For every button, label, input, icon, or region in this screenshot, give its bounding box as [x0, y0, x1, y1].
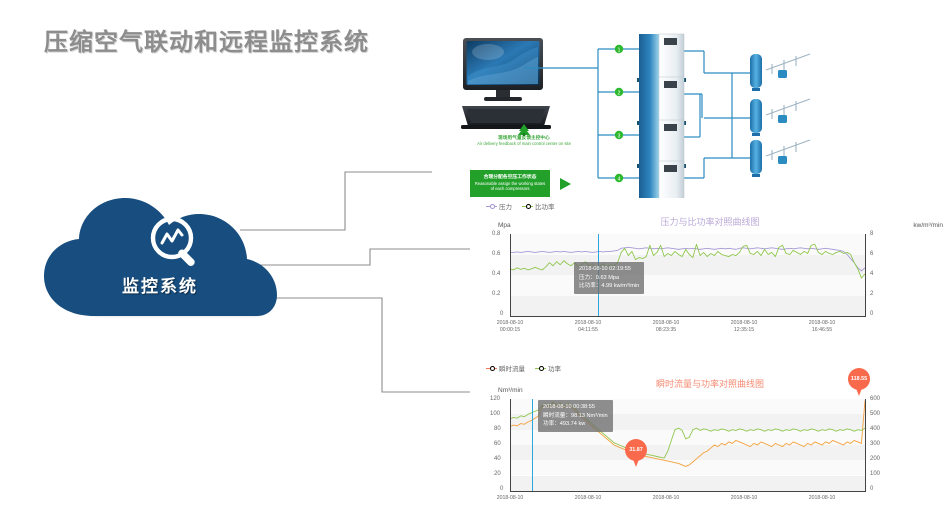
chart1-y-unit: Mpa [498, 222, 511, 229]
chart2-marker-min[interactable]: 31.87 [625, 439, 647, 467]
chart1-ytick: 0.2 [492, 291, 500, 297]
chart1-y2-axis [865, 234, 866, 317]
system-diagram-panel: 现场用气量反馈主控中心 Air delivery feedback of mai… [432, 18, 945, 208]
pressure-power-chart: 压力 比功率 压力与比功率对照曲线图 Mpa kw/m³/min 0.8 0.6… [470, 198, 945, 338]
chart2-y2tick: 100 [870, 471, 880, 477]
svg-text:1: 1 [618, 47, 621, 53]
chart2-xtick: 2018-08-10 [714, 495, 774, 502]
svg-text:2: 2 [618, 90, 621, 96]
tooltip-line-2: 功率：493.74 kw [543, 420, 608, 429]
chart2-marker-max[interactable]: 118.55 [848, 368, 870, 396]
chart2-y2tick: 0 [870, 486, 873, 492]
chart1-y2tick: 8 [870, 231, 873, 237]
legend-item-flow[interactable]: 瞬时流量 [486, 363, 525, 373]
chart1-y2tick: 0 [870, 311, 873, 317]
legend-label: 功率 [548, 363, 561, 373]
cloud-label: 监控系统 [38, 272, 282, 297]
chart1-xtick: 2018-08-10 00:00:15 [480, 320, 540, 334]
chart2-xtick: 2018-08-10 [636, 495, 696, 502]
chart1-y2tick: 4 [870, 271, 873, 277]
xtick-time: 08:23:35 [656, 327, 676, 333]
legend-marker-line-icon [486, 203, 497, 209]
chart1-xtick: 2018-08-10 04:11:55 [558, 320, 618, 334]
chart2-tooltip: 2018-08-10 00:38:55 瞬时流量：98.13 Nm³/min 功… [538, 400, 613, 432]
chart1-ytick: 0.4 [492, 271, 500, 277]
tooltip-line-2: 比功率：4.99 kw/m³/min [579, 282, 639, 291]
chart2-ytick: 60 [494, 441, 501, 447]
chart1-xtick: 2018-08-10 12:35:15 [714, 320, 774, 334]
legend-item-power[interactable]: 功率 [535, 363, 561, 373]
legend-marker-line-icon [486, 365, 497, 371]
chart2-xtick: 2018-08-10 [480, 495, 540, 502]
chart1-x-axis [510, 316, 866, 317]
xtick-date: 2018-08-10 [653, 320, 680, 326]
chart2-x-axis [510, 491, 866, 492]
xtick-time: 12:35:15 [734, 327, 754, 333]
legend-label: 压力 [499, 201, 512, 211]
chart1-plot-area[interactable] [510, 234, 865, 316]
chart1-ytick: 0.8 [492, 231, 500, 237]
chart2-ytick: 120 [490, 396, 500, 402]
xtick-time: 16:46:55 [812, 327, 832, 333]
chart1-tooltip: 2018-08-10 02:19:55 压力：0.63 Mpa 比功率：4.99… [574, 262, 644, 294]
magnifier-chart-icon [146, 214, 208, 272]
chart2-ytick: 0 [500, 486, 503, 492]
marker-label: 31.87 [625, 439, 647, 461]
xtick-time: 00:00:15 [500, 327, 520, 333]
svg-text:4: 4 [618, 176, 621, 182]
chart2-y2-axis [865, 399, 866, 492]
chart2-ytick: 20 [494, 471, 501, 477]
chart1-ytick: 0.6 [492, 251, 500, 257]
chart2-cursor-line[interactable] [532, 399, 533, 491]
xtick-date: 2018-08-10 [809, 320, 836, 326]
air-receiver-group [750, 140, 810, 177]
chart2-xtick: 2018-08-10 [792, 495, 852, 502]
chart1-y2-unit: kw/m³/min [913, 222, 943, 229]
chart1-ytick: 0 [500, 311, 503, 317]
slide-canvas: 压缩空气联动和远程监控系统 监控系统 [0, 0, 945, 529]
legend-item-specific-power[interactable]: 比功率 [522, 201, 555, 211]
legend-label: 比功率 [535, 201, 555, 211]
tooltip-timestamp: 2018-08-10 00:38:55 [543, 403, 608, 412]
chart2-y2tick: 400 [870, 426, 880, 432]
chart1-y-axis [510, 234, 511, 317]
xtick-time: 04:11:55 [578, 327, 598, 333]
monitoring-cloud[interactable]: 监控系统 [38, 196, 286, 326]
chart2-y-axis [510, 399, 511, 492]
chart1-y2tick: 2 [870, 291, 873, 297]
chart1-series-svg [510, 234, 865, 316]
xtick-date: 2018-08-10 [731, 320, 758, 326]
legend-marker-line-icon [535, 365, 546, 371]
chart2-y2tick: 300 [870, 441, 880, 447]
chart2-y-unit: Nm³/min [498, 387, 523, 394]
xtick-date: 2018-08-10 [575, 320, 602, 326]
chart1-xtick: 2018-08-10 16:46:55 [792, 320, 852, 334]
chart1-xtick: 2018-08-10 08:23:35 [636, 320, 696, 334]
piping-schematic: 1 2 3 4 [432, 18, 945, 208]
chart2-title: 瞬时流量与功率对照曲线图 [580, 377, 840, 390]
compressor-unit [637, 77, 686, 125]
xtick-date: 2018-08-10 [497, 320, 524, 326]
air-receiver-group [750, 54, 810, 91]
tooltip-line-1: 压力：0.63 Mpa [579, 274, 639, 283]
chart1-y2tick: 6 [870, 251, 873, 257]
chart2-ytick: 80 [494, 426, 501, 432]
chart2-y2tick: 500 [870, 411, 880, 417]
chart2-ytick: 100 [490, 411, 500, 417]
legend-label: 瞬时流量 [499, 363, 525, 373]
legend-marker-line-icon [522, 203, 533, 209]
chart2-ytick: 40 [494, 456, 501, 462]
chart2-y2tick: 600 [870, 396, 880, 402]
svg-text:3: 3 [618, 133, 621, 139]
legend-item-pressure[interactable]: 压力 [486, 201, 512, 211]
tooltip-timestamp: 2018-08-10 02:19:55 [579, 265, 639, 274]
flow-power-chart: 瞬时流量 功率 瞬时流量与功率对照曲线图 Nm³/min 120 100 80 … [470, 360, 945, 529]
chart2-y2tick: 200 [870, 456, 880, 462]
chart1-title: 压力与比功率对照曲线图 [590, 215, 830, 228]
compressor-unit [637, 34, 686, 82]
marker-label: 118.55 [848, 368, 870, 390]
air-receiver-group [750, 99, 810, 136]
chart2-xtick: 2018-08-10 [558, 495, 618, 502]
chart2-legend: 瞬时流量 功率 [486, 363, 561, 373]
chart1-legend: 压力 比功率 [486, 201, 555, 211]
tooltip-line-1: 瞬时流量：98.13 Nm³/min [543, 412, 608, 421]
